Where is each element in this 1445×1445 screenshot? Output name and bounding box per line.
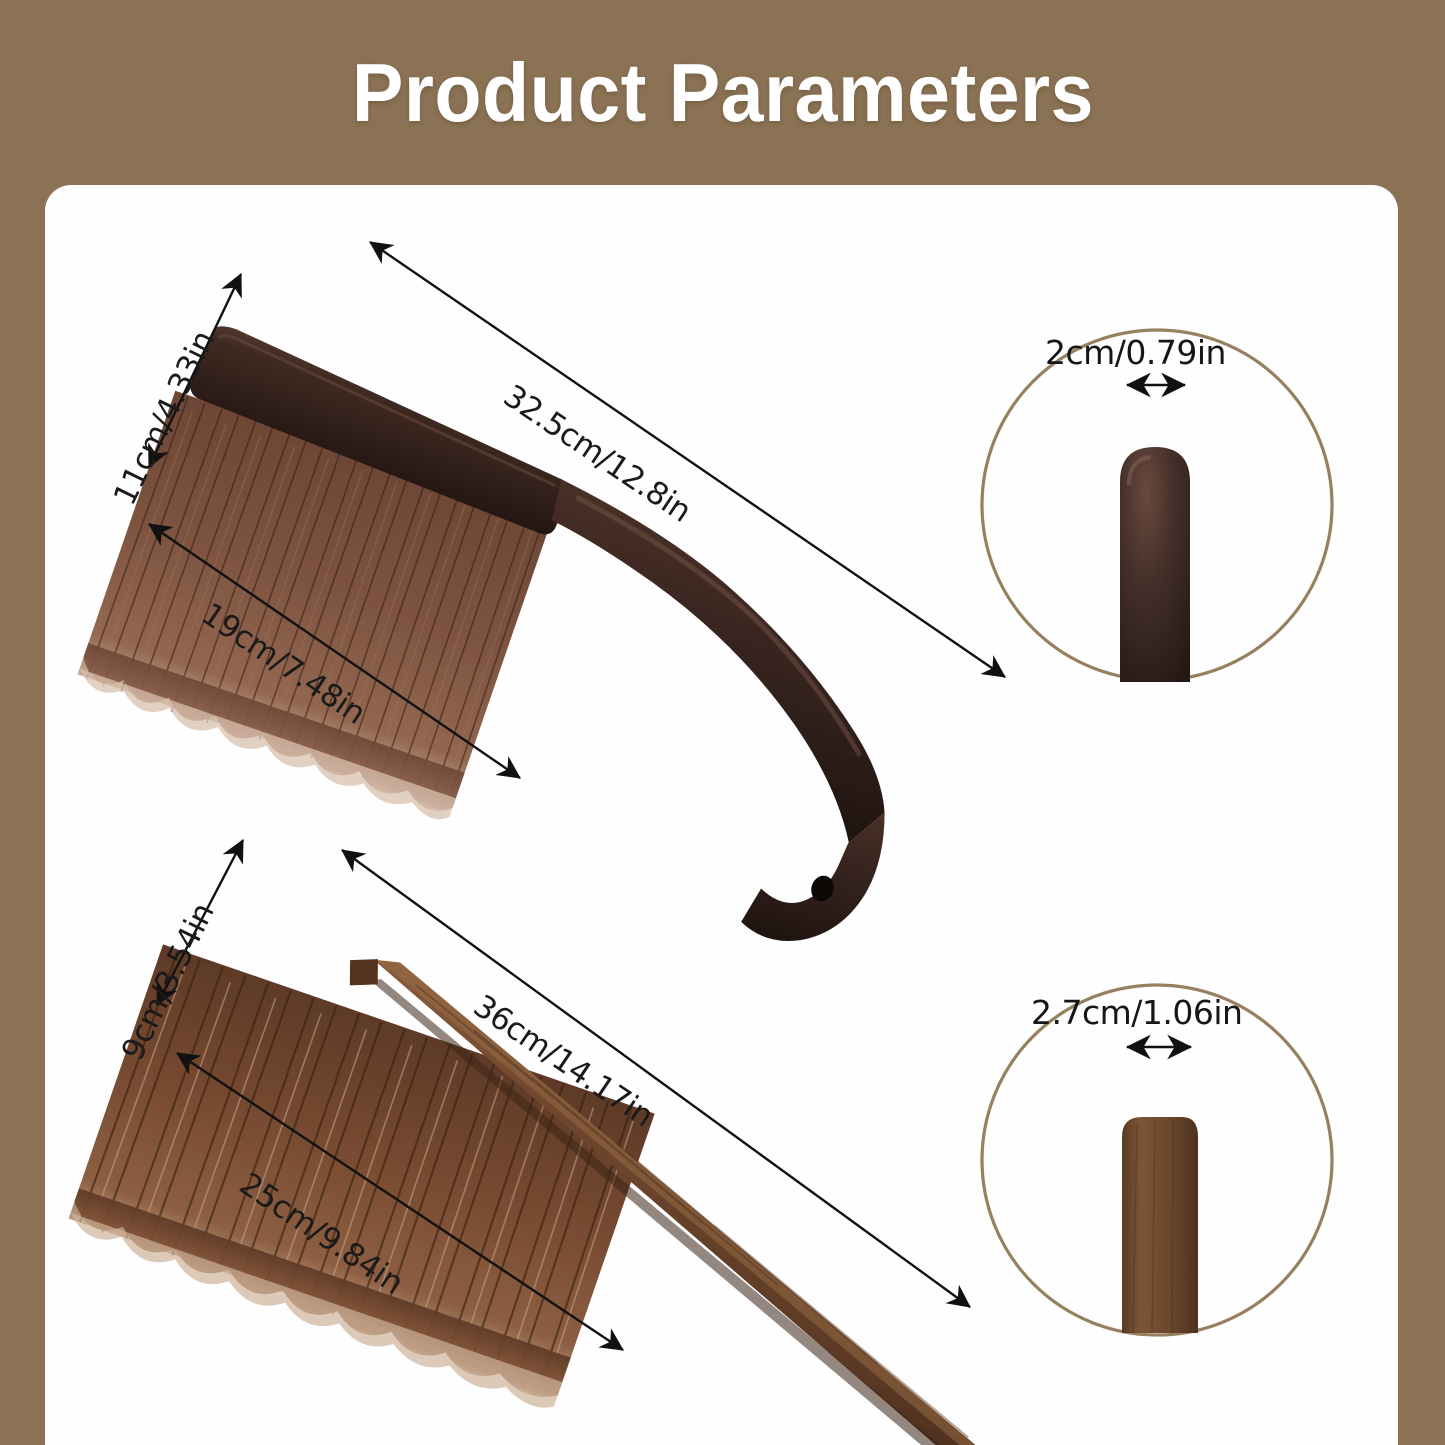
infographic-root: Product Parameters (0, 0, 1445, 1445)
content-card: 11cm/4.33in 32.5cm/12.8in 19cm/7.48in 9c… (45, 185, 1398, 1445)
callout-label-flat-handle: 2.7cm/1.06in (1031, 993, 1242, 1032)
brush-lower-illustration (60, 888, 1130, 1445)
artwork-layer (45, 185, 1398, 1445)
callout-circle-lower (982, 985, 1332, 1335)
title-bar: Product Parameters (0, 0, 1445, 185)
callout-circle-upper (982, 330, 1332, 682)
callout-label-round-handle: 2cm/0.79in (1045, 333, 1226, 372)
page-title: Product Parameters (352, 45, 1094, 141)
brush-upper-neck (480, 479, 953, 850)
